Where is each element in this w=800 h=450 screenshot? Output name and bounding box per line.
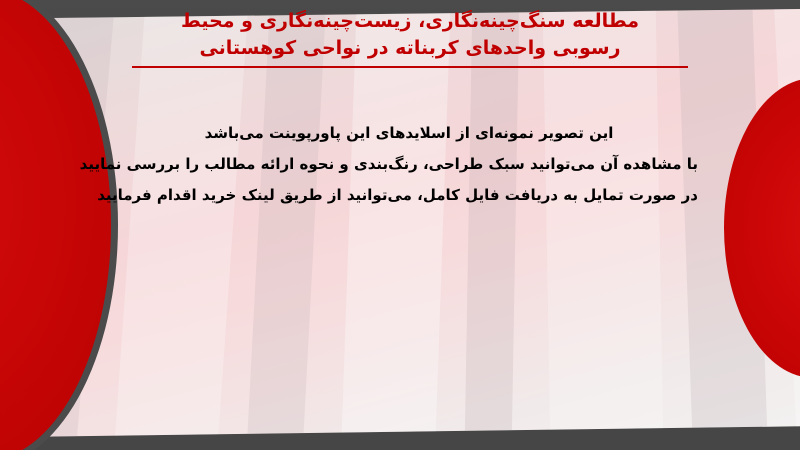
title-line-2: رسوبی واحدهای کربناته در نواحی کوهستانی — [125, 35, 695, 62]
body-line-1: این تصویر نمونه‌ای از اسلایدهای این پاور… — [120, 118, 698, 149]
background-band — [237, 9, 334, 437]
body-line-2: با مشاهده آن می‌توانید سبک طراحی، رنگ‌بن… — [120, 149, 698, 180]
slide-title: مطالعه سنگ‌چینه‌نگاری، زیست‌چینه‌نگاری و… — [125, 8, 695, 68]
background-band — [335, 9, 456, 437]
background-band — [101, 9, 258, 437]
title-line-1: مطالعه سنگ‌چینه‌نگاری، زیست‌چینه‌نگاری و… — [125, 8, 695, 35]
presentation-slide: مطالعه سنگ‌چینه‌نگاری، زیست‌چینه‌نگاری و… — [0, 0, 800, 450]
background-band-group — [18, 9, 800, 437]
slide-body-text: این تصویر نمونه‌ای از اسلایدهای این پاور… — [120, 118, 698, 212]
background-band — [461, 9, 521, 437]
background-band — [540, 9, 666, 437]
slide-canvas — [18, 9, 800, 437]
body-line-3: در صورت تمایل به دریافت فایل کامل، می‌تو… — [120, 180, 698, 211]
title-underline-rule — [132, 66, 688, 68]
